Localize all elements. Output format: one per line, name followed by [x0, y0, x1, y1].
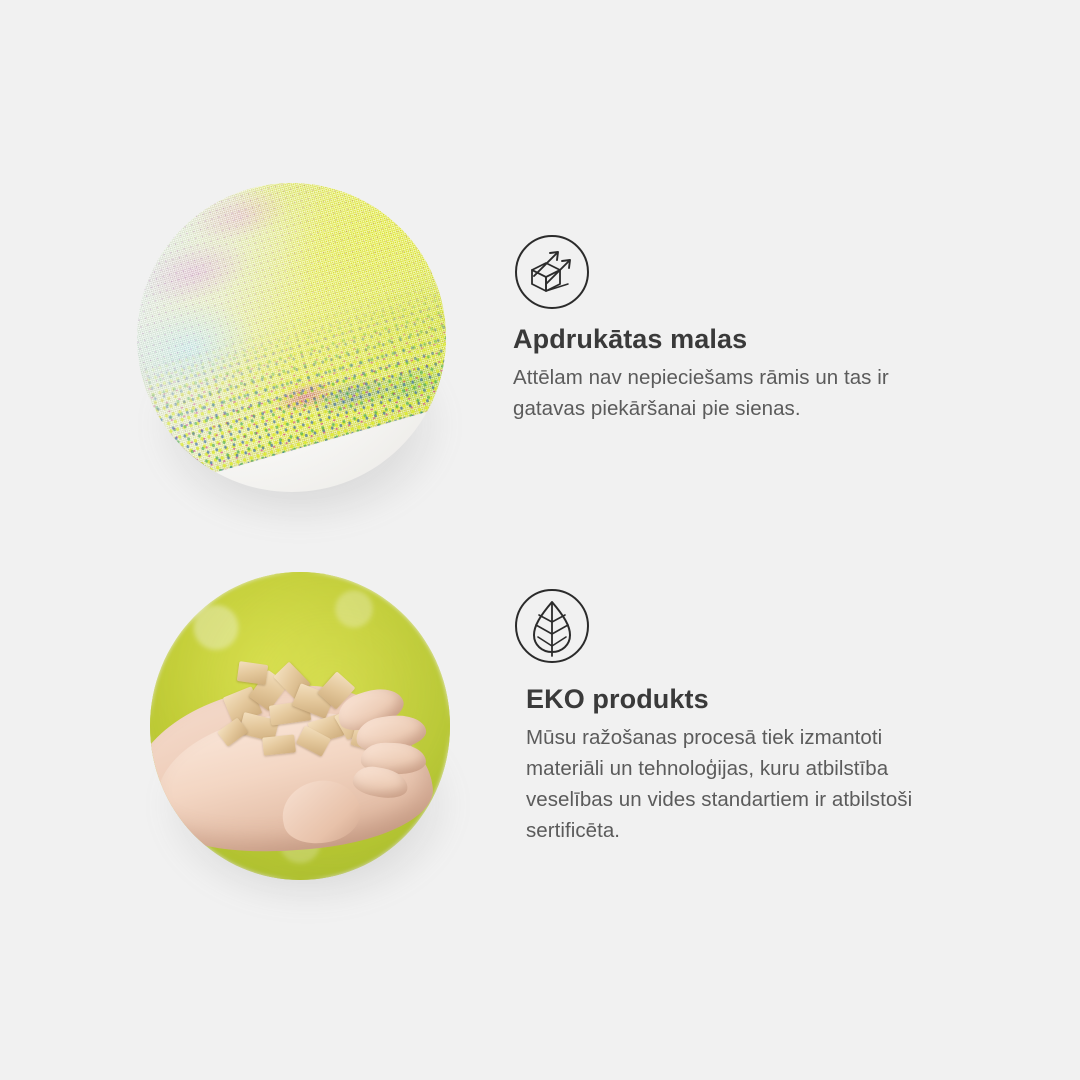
printed-edges-text: Apdrukātas malas Attēlam nav nepieciešam…	[513, 322, 1013, 424]
description-line: Mūsu ražošanas procesā tiek izmantoti	[526, 722, 1026, 753]
canvas-corner-photo	[137, 183, 446, 492]
eco-product-text: EKO produkts Mūsu ražošanas procesā tiek…	[526, 682, 1026, 846]
description-line: gatavas piekāršanai pie sienas.	[513, 393, 1013, 424]
product-feature-infographic: Apdrukātas malas Attēlam nav nepieciešam…	[0, 0, 1080, 1080]
canvas-artwork	[137, 183, 446, 492]
description-line: veselības un vides standartiem ir atbils…	[526, 784, 1026, 815]
description-line: materiāli un tehnoloģijas, kuru atbilstī…	[526, 753, 1026, 784]
wood-chips-photo	[150, 572, 450, 880]
eco-product-description: Mūsu ražošanas procesā tiek izmantoti ma…	[526, 722, 1026, 846]
printed-edges-title: Apdrukātas malas	[513, 322, 1013, 356]
description-line: Attēlam nav nepieciešams rāmis un tas ir	[513, 362, 1013, 393]
leaf-icon	[512, 586, 592, 666]
description-line: sertificēta.	[526, 815, 1026, 846]
canvas-printed-face	[137, 183, 446, 487]
eco-product-title: EKO produkts	[526, 682, 1026, 716]
fingers	[327, 695, 447, 800]
printed-edges-description: Attēlam nav nepieciešams rāmis un tas ir…	[513, 362, 1013, 424]
printed-edges-icon	[512, 232, 592, 312]
